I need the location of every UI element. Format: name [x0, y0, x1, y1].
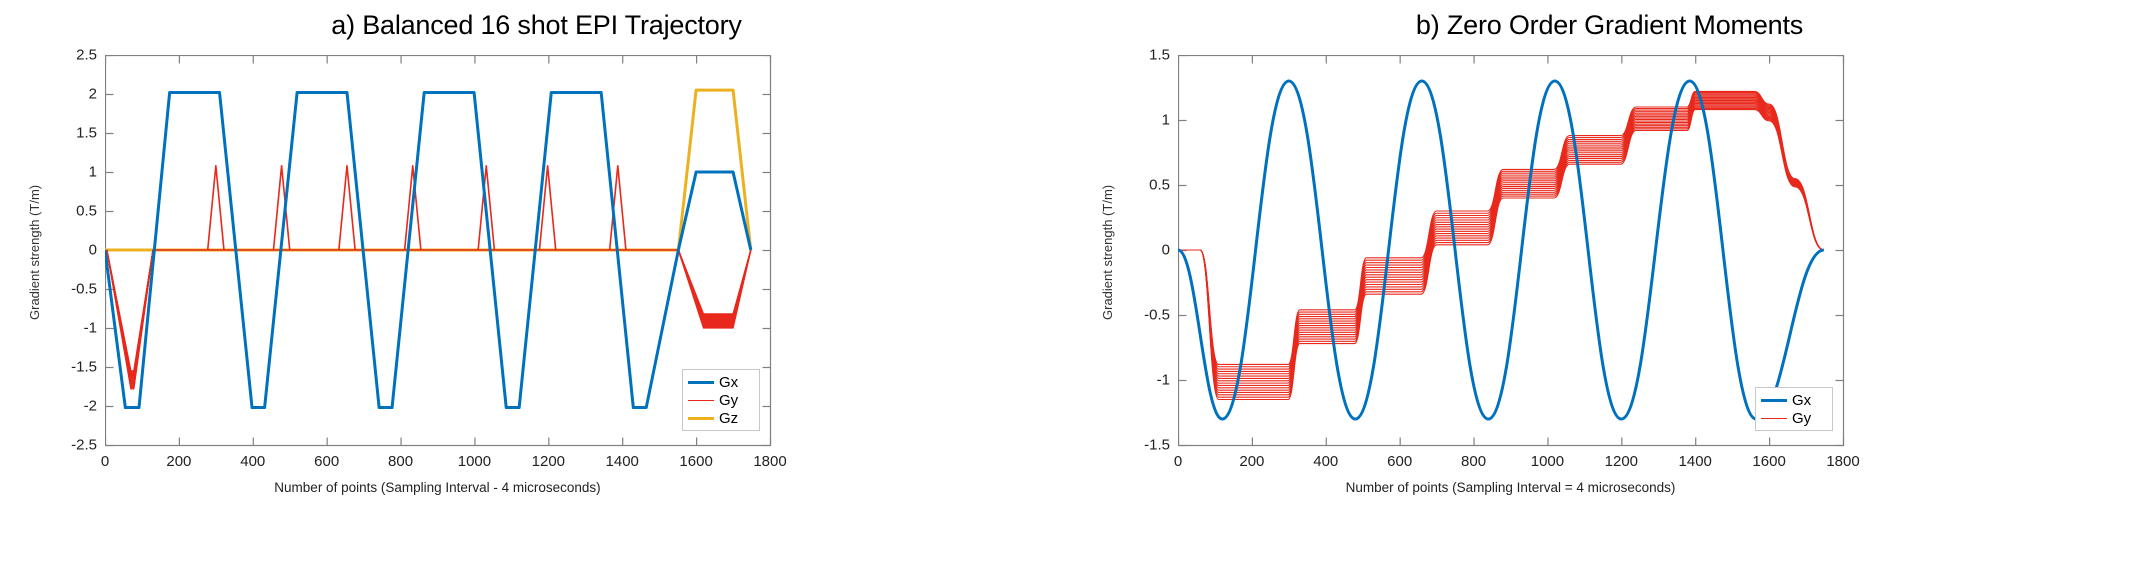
legend-color-swatch [688, 400, 714, 401]
legend-label: Gx [1792, 393, 1811, 408]
panel-b-plot-area: 020040060080010001200140016001800-1.5-1-… [1178, 55, 1843, 445]
y-axis-tick-label: -0.5 [1122, 307, 1170, 324]
y-axis-tick-label: 1.5 [49, 125, 97, 142]
panel-a: a) Balanced 16 shot EPI Trajectory 02004… [0, 0, 1073, 567]
x-axis-tick-label: 600 [1387, 453, 1412, 470]
y-axis-tick-label: 2.5 [49, 47, 97, 64]
gy-moment-trace [1178, 91, 1824, 364]
gy-rewinder-trace [678, 250, 750, 322]
legend[interactable]: GxGy [1755, 387, 1833, 431]
x-axis-tick-label: 200 [1239, 453, 1264, 470]
gy-moment-trace [1178, 94, 1824, 369]
legend-label: Gx [719, 375, 738, 390]
legend-item-gy[interactable]: Gy [688, 391, 752, 409]
y-axis-tick-label: -0.5 [49, 281, 97, 298]
y-axis-tick-label: 0.5 [49, 203, 97, 220]
x-axis-tick-label: 800 [388, 453, 413, 470]
y-axis-tick-label: -1.5 [49, 359, 97, 376]
gy-moment-trace [1178, 99, 1824, 379]
gy-moment-trace [1178, 105, 1824, 390]
panel-b-title: b) Zero Order Gradient Moments [1073, 10, 2146, 41]
gy-rewinder-trace [678, 250, 750, 323]
y-axis-tick-label: -1 [49, 320, 97, 337]
x-axis-tick-label: 1200 [532, 453, 565, 470]
legend-label: Gz [719, 411, 738, 426]
x-axis-label: Number of points (Sampling Interval = 4 … [1178, 480, 1843, 495]
x-axis-tick-label: 1000 [1531, 453, 1564, 470]
y-axis-tick-label: 1.5 [1122, 47, 1170, 64]
legend-item-gx[interactable]: Gx [688, 373, 752, 391]
x-axis-tick-label: 1000 [458, 453, 491, 470]
y-axis-tick-label: 0 [1122, 242, 1170, 259]
panel-a-plot-area: 020040060080010001200140016001800-2.5-2-… [105, 55, 770, 445]
y-axis-tick-label: 0.5 [1122, 177, 1170, 194]
plot-canvas [1178, 55, 1845, 447]
x-axis-tick-label: 1800 [1826, 453, 1859, 470]
x-axis-tick-label: 600 [314, 453, 339, 470]
gy-blip-trace [339, 166, 355, 250]
y-axis-tick-label: 2 [49, 86, 97, 103]
gy-moment-trace [1178, 96, 1824, 374]
y-axis-tick-label: -2 [49, 398, 97, 415]
x-axis-tick-label: 1400 [1679, 453, 1712, 470]
y-axis-tick-label: 0 [49, 242, 97, 259]
x-axis-tick-label: 1600 [1752, 453, 1785, 470]
gy-moment-trace [1178, 95, 1824, 371]
x-axis-tick-label: 1400 [606, 453, 639, 470]
legend-item-gx[interactable]: Gx [1761, 391, 1825, 409]
axes-frame [1179, 56, 1844, 446]
x-axis-tick-label: 1200 [1605, 453, 1638, 470]
y-axis-tick-label: -1 [1122, 372, 1170, 389]
panel-a-title: a) Balanced 16 shot EPI Trajectory [0, 10, 1073, 41]
gz-trace [105, 90, 751, 250]
gy-moment-trace [1178, 97, 1824, 376]
legend-color-swatch [688, 381, 714, 384]
legend[interactable]: GxGyGz [682, 369, 760, 431]
x-axis-label: Number of points (Sampling Interval - 4 … [105, 480, 770, 495]
x-axis-tick-label: 800 [1461, 453, 1486, 470]
legend-label: Gy [1792, 411, 1811, 426]
y-axis-tick-label: 1 [49, 164, 97, 181]
gy-moment-trace [1178, 108, 1824, 397]
y-axis-label: Gradient strength (T/m) [1100, 185, 1115, 320]
gy-moment-trace [1178, 104, 1824, 388]
x-axis-tick-label: 200 [166, 453, 191, 470]
x-axis-tick-label: 1800 [753, 453, 786, 470]
plot-canvas [105, 55, 772, 447]
x-axis-tick-label: 400 [1313, 453, 1338, 470]
gy-moment-trace [1178, 106, 1824, 393]
y-axis-tick-label: -2.5 [49, 437, 97, 454]
gx-moment-trace [1178, 81, 1824, 419]
gy-moment-trace [1178, 100, 1824, 381]
legend-color-swatch [688, 417, 714, 420]
gy-moment-trace [1178, 107, 1824, 395]
y-axis-label: Gradient strength (T/m) [27, 185, 42, 320]
legend-color-swatch [1761, 399, 1787, 402]
x-axis-tick-label: 400 [240, 453, 265, 470]
gy-moment-trace [1178, 102, 1824, 385]
x-axis-tick-label: 1600 [679, 453, 712, 470]
gy-moment-trace [1178, 110, 1824, 400]
x-axis-tick-label: 0 [101, 453, 109, 470]
gy-moment-trace [1178, 93, 1824, 367]
legend-label: Gy [719, 393, 738, 408]
y-axis-tick-label: -1.5 [1122, 437, 1170, 454]
legend-color-swatch [1761, 418, 1787, 419]
legend-item-gy[interactable]: Gy [1761, 409, 1825, 427]
gy-blip-trace [208, 166, 224, 250]
figure-root: a) Balanced 16 shot EPI Trajectory 02004… [0, 0, 2146, 567]
y-axis-tick-label: 1 [1122, 112, 1170, 129]
panel-b: b) Zero Order Gradient Moments 020040060… [1073, 0, 2146, 567]
legend-item-gz[interactable]: Gz [688, 409, 752, 427]
gy-moment-trace [1178, 101, 1824, 383]
x-axis-tick-label: 0 [1174, 453, 1182, 470]
